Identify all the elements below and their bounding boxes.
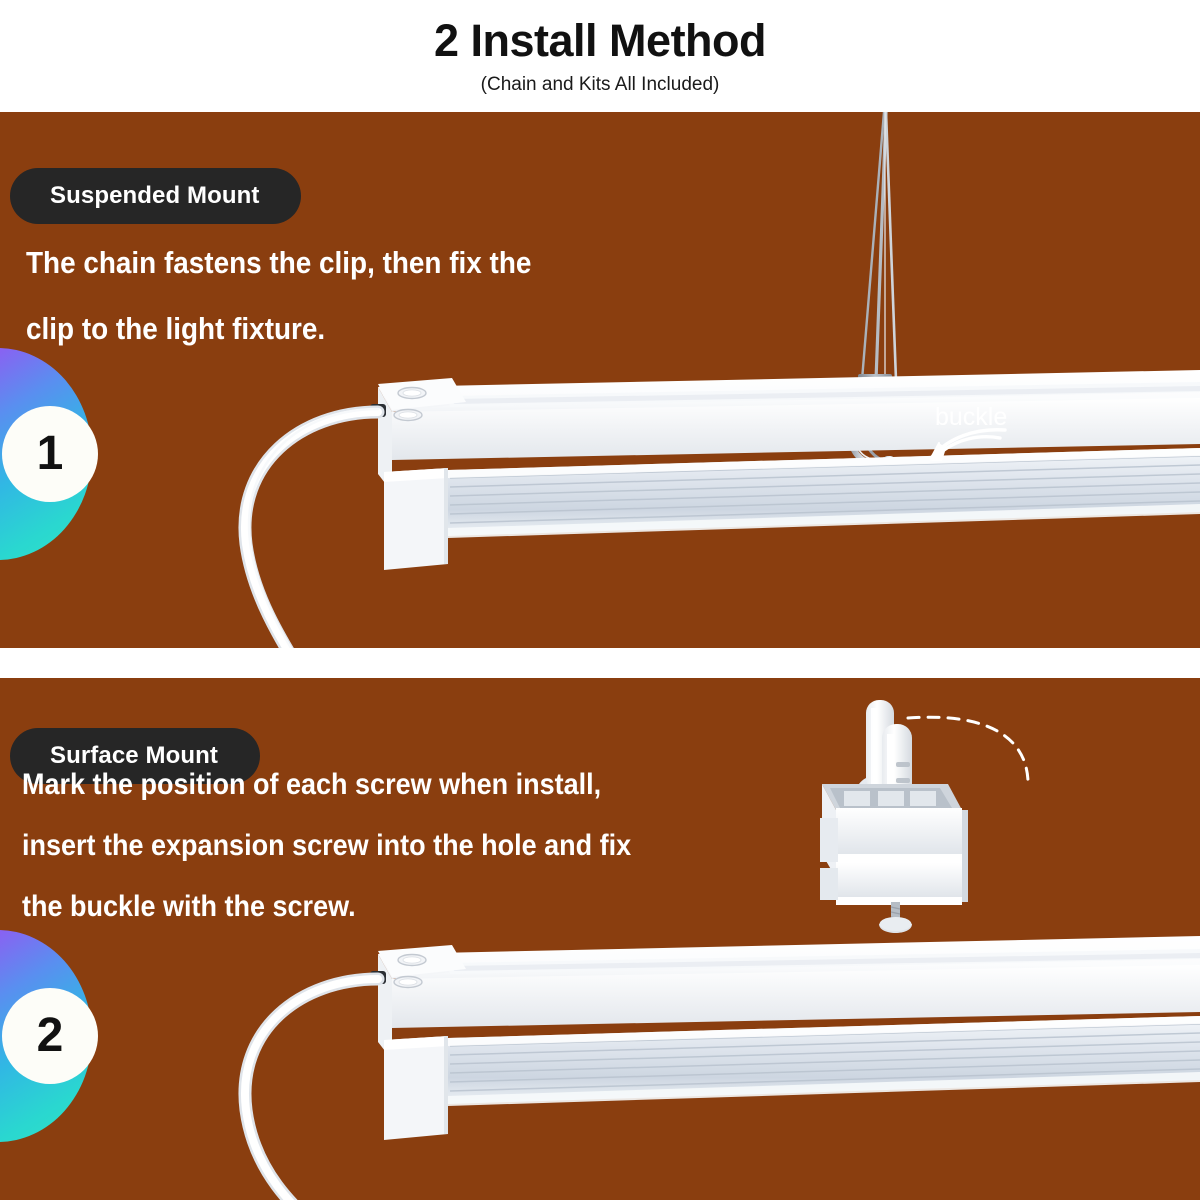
step-1-number: 1 (37, 430, 64, 478)
step-2-description-line-2: insert the expansion screw into the hole… (22, 831, 634, 861)
page-title: 2 Install Method (434, 18, 766, 63)
step-1-badge: 1 (0, 348, 92, 560)
step-2-description-line-3: the buckle with the screw. (22, 892, 634, 922)
step-2-description: Mark the position of each screw when ins… (22, 770, 702, 953)
install-method-infographic: 2 Install Method (Chain and Kits All Inc… (0, 0, 1200, 1200)
step-2-pill-label: Surface Mount (50, 742, 218, 770)
page-subtitle: (Chain and Kits All Included) (481, 74, 720, 96)
power-cord-icon (245, 979, 378, 1200)
surface-mount-bracket-icon (820, 784, 968, 905)
step-1-description-line-2: clip to the light fixture. (26, 313, 584, 344)
step-2-number-circle: 2 (2, 988, 98, 1084)
step-1-description-line-1: The chain fastens the clip, then fix the (26, 247, 584, 278)
led-linear-fixture-icon (370, 370, 1200, 570)
step-1-description: The chain fastens the clip, then fix the… (26, 247, 646, 379)
step-1-pill-label: Suspended Mount (50, 182, 259, 210)
header: 2 Install Method (Chain and Kits All Inc… (0, 0, 1200, 112)
power-cord-icon (245, 409, 378, 648)
step-panel-surface-mount: Surface Mount Mark the position of each … (0, 678, 1200, 1200)
step-panel-suspended-mount: Suspended Mount The chain fastens the cl… (0, 112, 1200, 648)
mounting-screw-icon (879, 902, 912, 933)
buckle-callout-label: buckle (935, 405, 1007, 430)
step-1-number-circle: 1 (2, 406, 98, 502)
step-2-description-line-1: Mark the position of each screw when ins… (22, 770, 634, 800)
step-1-pill: Suspended Mount (10, 168, 301, 224)
led-linear-fixture-icon (370, 936, 1200, 1140)
suspension-cable-icon (862, 112, 896, 382)
step-2-badge: 2 (0, 930, 92, 1142)
step-2-number: 2 (37, 1012, 64, 1060)
